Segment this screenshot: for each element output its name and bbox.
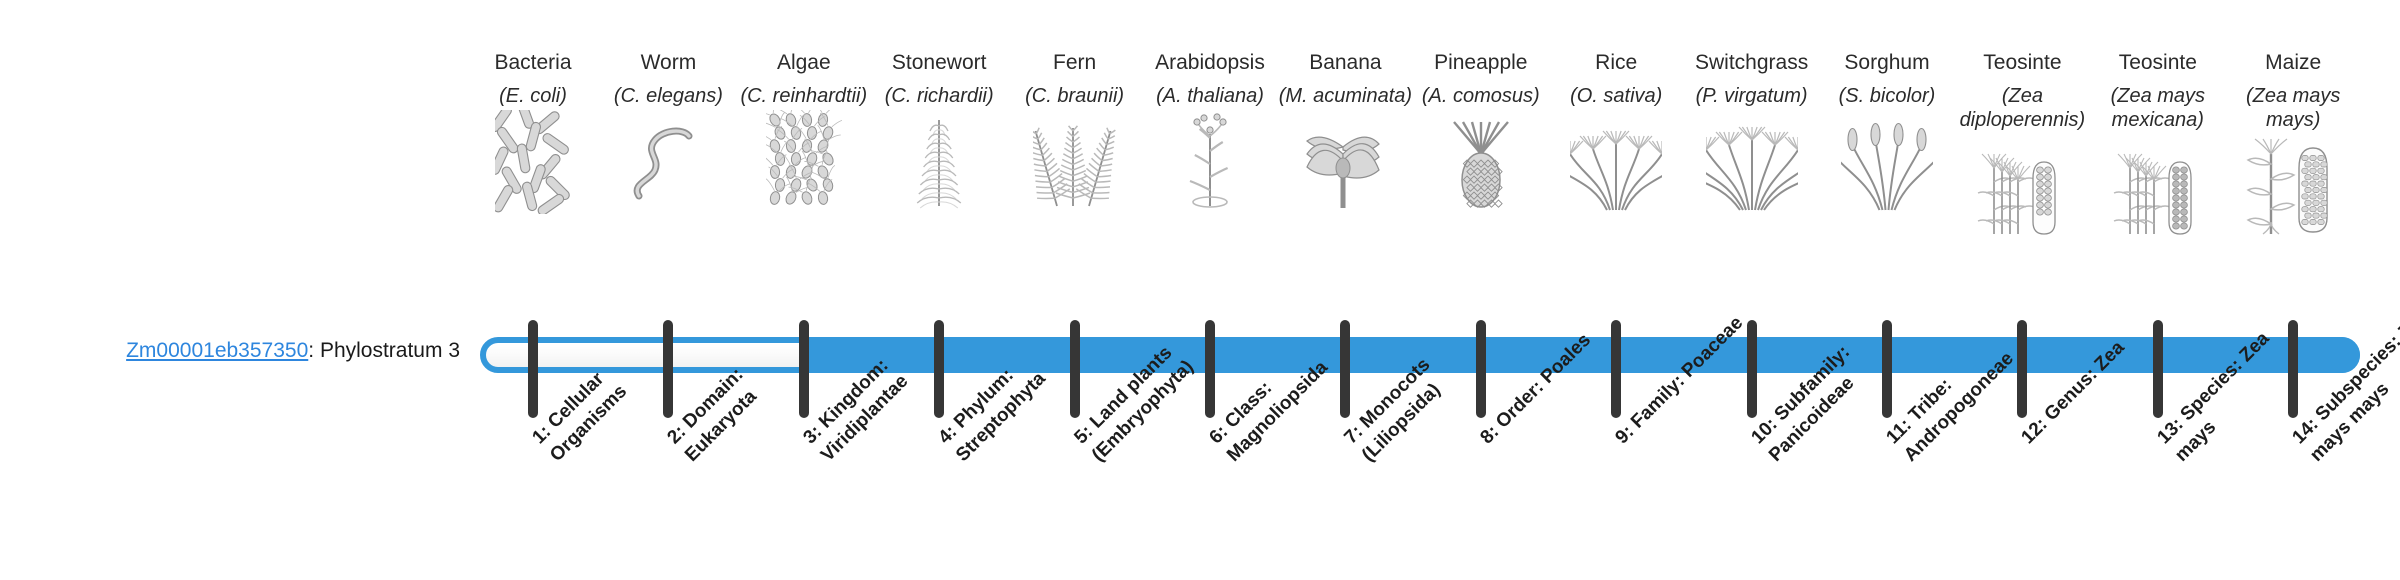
species-scientific-name: (S. bicolor): [1812, 84, 1962, 108]
pineapple-illustration: [1406, 118, 1556, 214]
species-scientific-name: (C. richardii): [864, 84, 1014, 108]
species-column: Maize(Zea mays mays): [2218, 50, 2368, 238]
species-scientific-name: (C. elegans): [593, 84, 743, 108]
taxonomy-rank-label: 12: Genus: Zea: [2016, 298, 2168, 450]
species-column: Banana(M. acuminata): [1270, 50, 1420, 214]
timeline-tick: [2153, 320, 2163, 418]
phylostratum-timeline: Zm00001eb357350: Phylostratum 3 Bacteria…: [0, 0, 2400, 580]
species-common-name: Switchgrass: [1677, 50, 1827, 76]
species-scientific-name: (A. comosus): [1406, 84, 1556, 108]
species-column: Sorghum(S. bicolor): [1812, 50, 1962, 214]
species-common-name: Teosinte: [1947, 50, 2097, 76]
species-common-name: Worm: [593, 50, 743, 76]
species-scientific-name: (O. sativa): [1541, 84, 1691, 108]
species-common-name: Banana: [1270, 50, 1420, 76]
switchgrass-illustration: [1677, 118, 1827, 214]
nematode-worm-illustration: [593, 118, 743, 214]
species-scientific-name: (C. braunii): [1000, 84, 1150, 108]
phylostratum-value: Phylostratum 3: [320, 339, 460, 362]
gene-id-link[interactable]: Zm00001eb357350: [126, 339, 308, 362]
species-column: Stonewort(C. richardii): [864, 50, 1014, 214]
banana-plant-illustration: [1270, 118, 1420, 214]
species-common-name: Algae: [729, 50, 879, 76]
species-scientific-name: (Zea mays mays): [2218, 84, 2368, 132]
species-column: Arabidopsis(A. thaliana): [1135, 50, 1285, 214]
species-scientific-name: (M. acuminata): [1270, 84, 1420, 108]
timeline-tick: [1611, 320, 1621, 418]
gene-phylostratum-label: Zm00001eb357350: Phylostratum 3: [40, 338, 460, 363]
arabidopsis-illustration: [1135, 118, 1285, 214]
species-common-name: Fern: [1000, 50, 1150, 76]
species-column: Teosinte(Zea mays mexicana): [2083, 50, 2233, 238]
species-common-name: Sorghum: [1812, 50, 1962, 76]
taxonomy-rank-label: 8: Order: Poales: [1475, 298, 1627, 450]
bacteria-rods-illustration: [458, 118, 608, 214]
species-column: Fern(C. braunii): [1000, 50, 1150, 214]
species-common-name: Rice: [1541, 50, 1691, 76]
species-common-name: Arabidopsis: [1135, 50, 1285, 76]
species-column: Worm(C. elegans): [593, 50, 743, 214]
taxonomy-rank-label: 9: Family: Poaceae: [1610, 298, 1762, 450]
species-column: Rice(O. sativa): [1541, 50, 1691, 214]
maize-plant-and-ear-illustration: [2218, 142, 2368, 238]
species-column: Bacteria(E. coli): [458, 50, 608, 214]
timeline-tick: [1747, 320, 1757, 418]
teosinte-mexicana-plant-and-ear-illustration: [2083, 142, 2233, 238]
species-common-name: Bacteria: [458, 50, 608, 76]
species-common-name: Pineapple: [1406, 50, 1556, 76]
species-scientific-name: (P. virgatum): [1677, 84, 1827, 108]
species-column: Teosinte(Zea diploperennis): [1947, 50, 2097, 238]
species-scientific-name: (A. thaliana): [1135, 84, 1285, 108]
timeline-tick: [528, 320, 538, 418]
species-scientific-name: (C. reinhardtii): [729, 84, 879, 108]
species-scientific-name: (E. coli): [458, 84, 608, 108]
gene-label-separator: :: [308, 339, 320, 362]
species-common-name: Maize: [2218, 50, 2368, 76]
species-common-name: Stonewort: [864, 50, 1014, 76]
algae-cells-illustration: [729, 118, 879, 214]
stonewort-illustration: [864, 118, 1014, 214]
species-column: Switchgrass(P. virgatum): [1677, 50, 1827, 214]
species-column: Algae(C. reinhardtii): [729, 50, 879, 214]
species-common-name: Teosinte: [2083, 50, 2233, 76]
rice-plant-illustration: [1541, 118, 1691, 214]
species-column: Pineapple(A. comosus): [1406, 50, 1556, 214]
teosinte-plant-and-ear-illustration: [1947, 142, 2097, 238]
fern-frond-illustration: [1000, 118, 1150, 214]
species-scientific-name: (Zea mays mexicana): [2083, 84, 2233, 132]
sorghum-illustration: [1812, 118, 1962, 214]
species-scientific-name: (Zea diploperennis): [1947, 84, 2097, 132]
